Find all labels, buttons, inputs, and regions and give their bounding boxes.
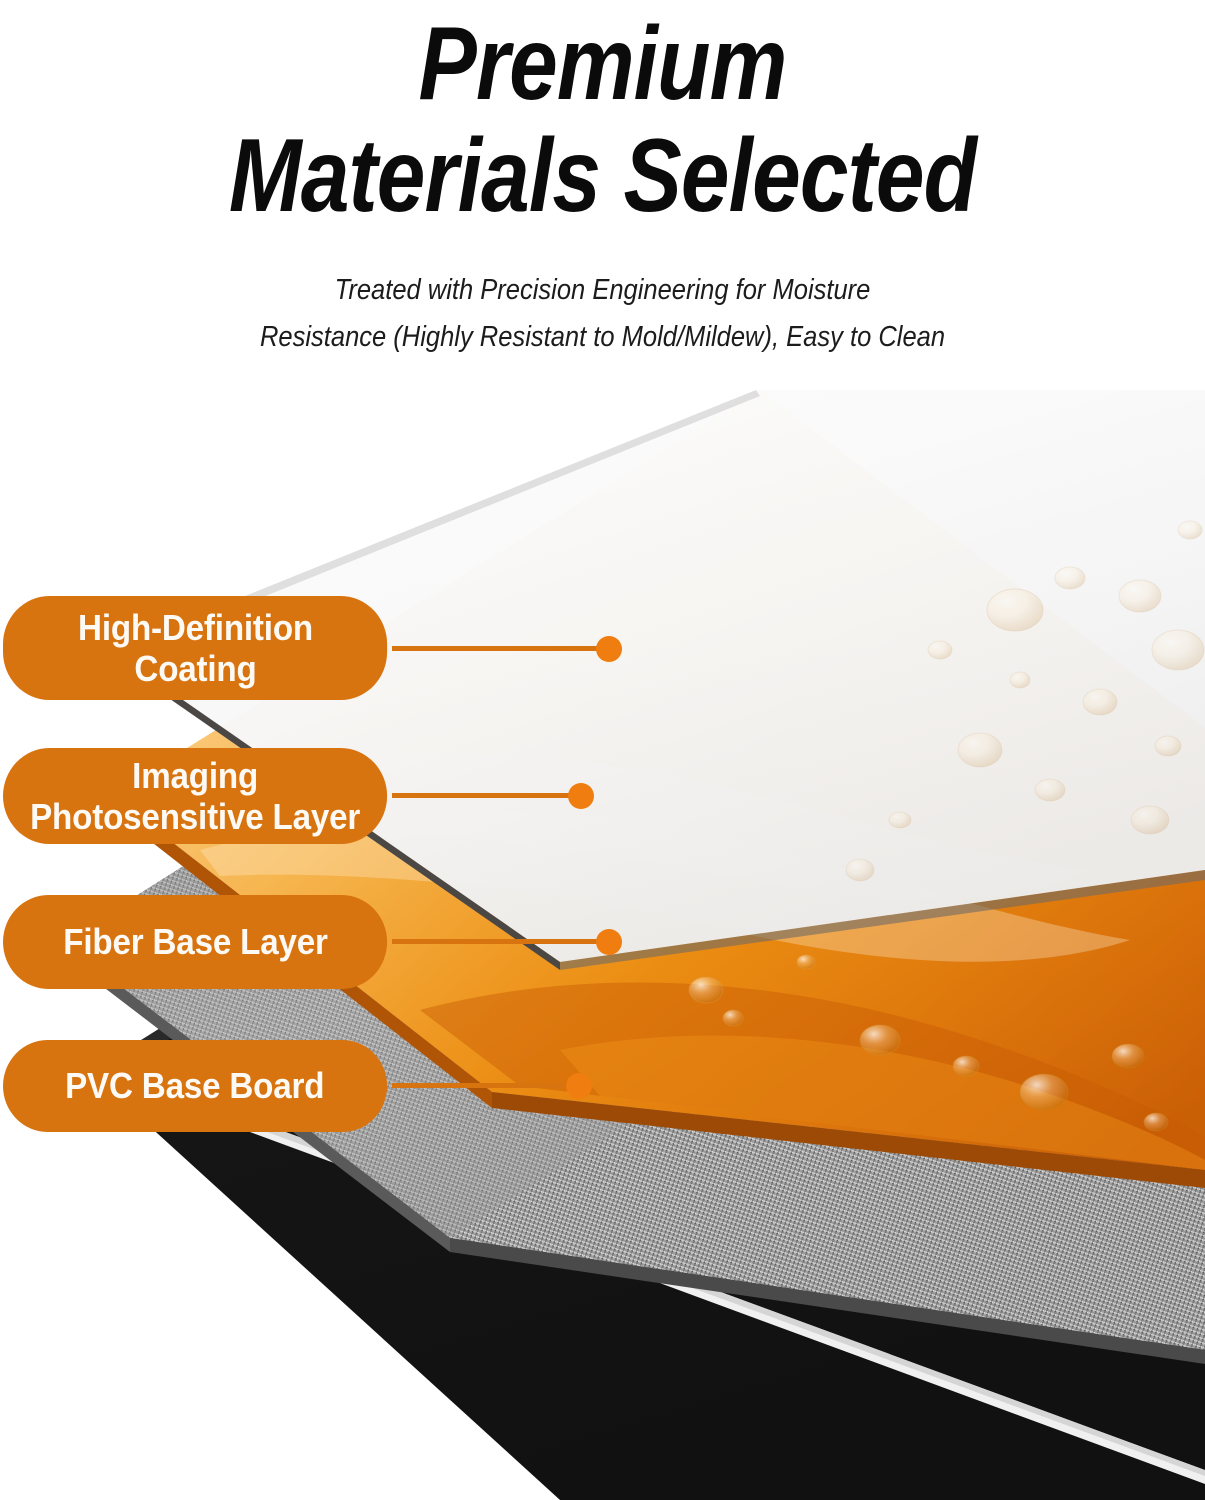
connector-line-coating xyxy=(392,646,608,651)
connector-line-photosensitive xyxy=(392,793,582,798)
connector-dot-photosensitive xyxy=(568,783,594,809)
callout-pill-photosensitive[interactable]: Imaging Photosensitive Layer xyxy=(3,748,387,844)
callout-label-coating: High-Definition Coating xyxy=(78,607,313,689)
header: Premium Materials Selected Treated with … xyxy=(0,0,1205,361)
connector-line-pvc xyxy=(392,1083,582,1088)
callout-pill-pvc[interactable]: PVC Base Board xyxy=(3,1040,387,1132)
callout-label-pvc: PVC Base Board xyxy=(65,1065,324,1106)
callout-pill-coating[interactable]: High-Definition Coating xyxy=(3,596,387,700)
connector-dot-fiber xyxy=(596,929,622,955)
connector-dot-pvc xyxy=(566,1073,592,1099)
infographic-page: Premium Materials Selected Treated with … xyxy=(0,0,1205,1500)
callout-label-fiber: Fiber Base Layer xyxy=(63,921,327,962)
page-subtitle: Treated with Precision Engineering for M… xyxy=(72,233,1132,361)
page-title: Premium Materials Selected xyxy=(96,0,1108,233)
connector-dot-coating xyxy=(596,636,622,662)
callout-label-photosensitive: Imaging Photosensitive Layer xyxy=(30,755,360,837)
callout-pill-fiber[interactable]: Fiber Base Layer xyxy=(3,895,387,989)
connector-line-fiber xyxy=(392,939,608,944)
